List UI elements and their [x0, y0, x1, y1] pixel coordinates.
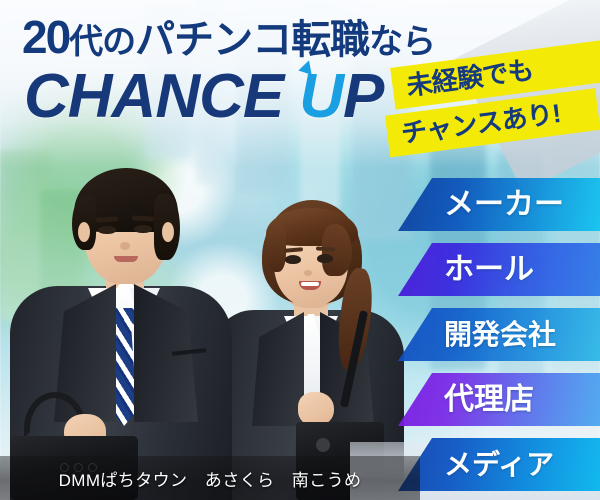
category-label: メーカー	[444, 190, 564, 220]
category-band-hall[interactable]: ホール	[398, 243, 600, 296]
man-figure	[10, 152, 240, 500]
category-label: 開発会社	[444, 321, 556, 349]
recruitment-banner[interactable]: 20代のパチンコ転職なら CHANCEUP 未経験でも チャンスあり! メーカー…	[0, 0, 600, 500]
category-label: 代理店	[444, 385, 534, 415]
credit-bar: DMMぱちタウン あさくら 南こうめ	[0, 456, 420, 500]
credit-text: DMMぱちタウン あさくら 南こうめ	[59, 466, 362, 491]
category-list: メーカー ホール 開発会社 代理店 メディア	[398, 178, 600, 500]
category-label: メディア	[444, 451, 554, 479]
headline-part2: パチンコ転職	[135, 18, 369, 62]
status-badge: 未経験でも チャンスあり!	[392, 54, 600, 138]
category-band-media[interactable]: メディア	[398, 438, 600, 491]
page-title: 20代のパチンコ転職なら	[22, 14, 435, 60]
logo-letter-u: U	[299, 62, 343, 131]
logo-letter-p: P	[343, 62, 383, 131]
chance-up-logo: CHANCEUP	[24, 66, 383, 128]
category-band-developer[interactable]: 開発会社	[398, 308, 600, 361]
category-band-maker[interactable]: メーカー	[398, 178, 600, 231]
category-band-agency[interactable]: 代理店	[398, 373, 600, 426]
category-label: ホール	[444, 255, 534, 285]
headline-number: 20	[22, 11, 69, 63]
headline-block: 20代のパチンコ転職なら	[22, 14, 435, 60]
headline-part1: 代の	[69, 23, 135, 61]
logo-word-chance: CHANCE	[24, 62, 283, 131]
